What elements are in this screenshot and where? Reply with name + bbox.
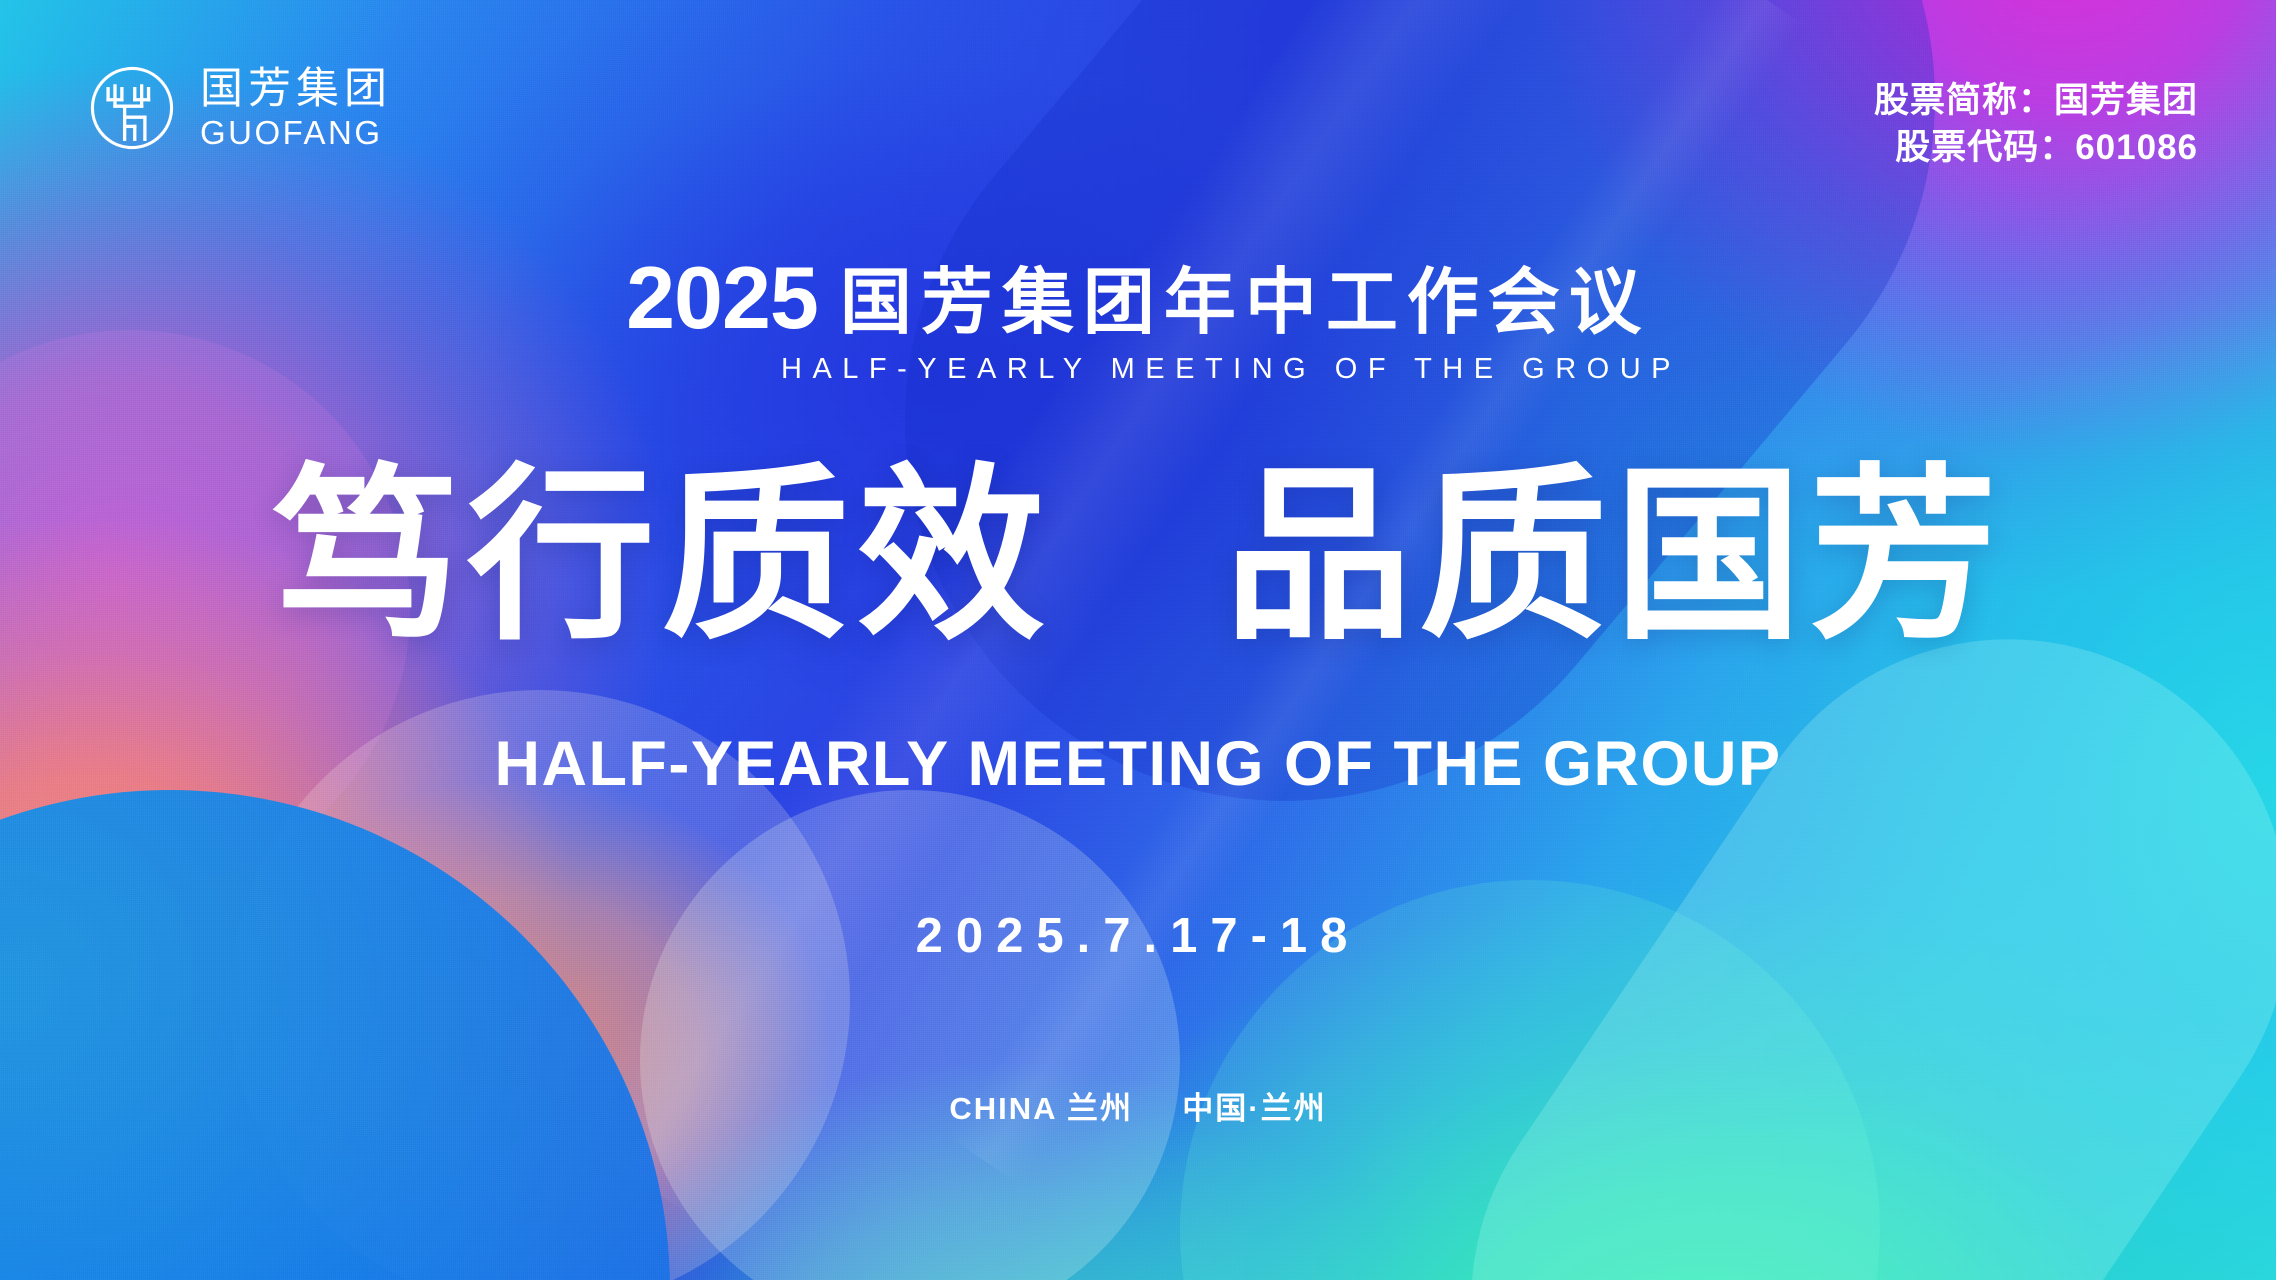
event-location: CHINA 兰州 中国·兰州 — [0, 1083, 2276, 1128]
event-title-block: 2025 国芳集团年中工作会议 HALF-YEARLY MEETING OF T… — [0, 258, 2276, 386]
brand-logo: 国芳集团 GUOFANG — [86, 62, 392, 154]
main-slogan-part-2: 品质国芳 — [1224, 451, 2004, 661]
event-location-en: CHINA 兰州 — [949, 1091, 1133, 1126]
event-date: 2025.7.17-18 — [0, 908, 2276, 964]
event-name-en: HALF-YEARLY MEETING OF THE GROUP — [0, 353, 2276, 386]
main-slogan-part-1: 笃行质效 — [272, 451, 1052, 661]
stock-code: 股票代码：601086 — [1874, 125, 2198, 172]
event-name-cn: 国芳集团年中工作会议 — [840, 268, 1650, 339]
brand-logo-wordmark: 国芳集团 GUOFANG — [200, 68, 392, 149]
poster-canvas: 国芳集团 GUOFANG 股票简称：国芳集团 股票代码：601086 2025 … — [0, 0, 2276, 1280]
stock-abbreviation: 股票简称：国芳集团 — [1874, 78, 2198, 125]
deer-circle-emblem-icon — [86, 62, 178, 154]
event-title-row: 2025 国芳集团年中工作会议 — [626, 258, 1650, 339]
main-slogan: 笃行质效 品质国芳 — [0, 462, 2276, 650]
stock-info: 股票简称：国芳集团 股票代码：601086 — [1874, 78, 2198, 172]
poster-content: 国芳集团 GUOFANG 股票简称：国芳集团 股票代码：601086 2025 … — [0, 0, 2276, 1280]
event-location-cn: 中国·兰州 — [1182, 1091, 1326, 1126]
brand-name-en: GUOFANG — [200, 116, 392, 149]
brand-name-cn: 国芳集团 — [200, 68, 392, 111]
main-slogan-en: HALF-YEARLY MEETING OF THE GROUP — [0, 728, 2276, 800]
event-year: 2025 — [626, 258, 818, 339]
